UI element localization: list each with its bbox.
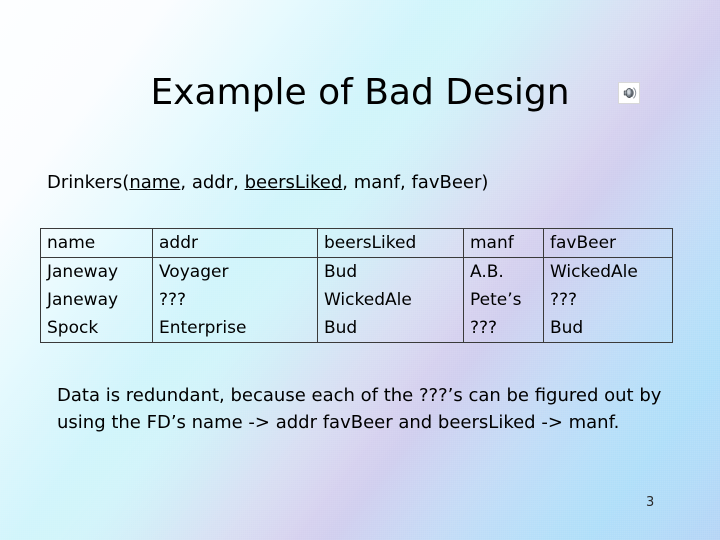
relation-schema-line: Drinkers(name, addr, beersLiked, manf, f… <box>47 171 488 195</box>
slide: Example of Bad Design Drinkers(name, ad <box>0 0 720 540</box>
table-column-header-beersliked: beersLiked <box>318 229 464 258</box>
page-number: 3 <box>646 495 654 511</box>
table-body: Janeway Voyager Bud A.B. WickedAle Janew… <box>41 258 673 343</box>
sound-speaker-icon[interactable] <box>618 82 640 104</box>
table-cell: Spock <box>41 314 153 343</box>
table-cell: Janeway <box>41 258 153 287</box>
table-row: Janeway Voyager Bud A.B. WickedAle <box>41 258 673 287</box>
table-cell: Bud <box>544 314 673 343</box>
table-row: Janeway ??? WickedAle Pete’s ??? <box>41 286 673 314</box>
schema-separator-1: , <box>233 172 244 193</box>
table-cell: Pete’s <box>464 286 544 314</box>
table-cell: Enterprise <box>153 314 318 343</box>
table-cell: A.B. <box>464 258 544 287</box>
table-column-header-manf: manf <box>464 229 544 258</box>
table-row: Spock Enterprise Bud ??? Bud <box>41 314 673 343</box>
table-column-header-addr: addr <box>153 229 318 258</box>
schema-attribute-manf: manf <box>354 172 400 193</box>
schema-separator-2: , <box>342 172 353 193</box>
table-header: name addr beersLiked manf favBeer <box>41 229 673 258</box>
schema-relation-suffix: ) <box>481 172 488 193</box>
schema-attribute-favbeer: favBeer <box>411 172 481 193</box>
schema-relation-prefix: Drinkers( <box>47 172 129 193</box>
schema-separator-3: , <box>400 172 411 193</box>
table-cell: ??? <box>544 286 673 314</box>
schema-separator-0: , <box>180 172 191 193</box>
table-cell: Janeway <box>41 286 153 314</box>
schema-attribute-beersliked: beersLiked <box>245 172 343 193</box>
schema-attribute-name: name <box>129 172 180 193</box>
page-title: Example of Bad Design <box>0 71 720 115</box>
table-column-header-favbeer: favBeer <box>544 229 673 258</box>
table-cell: WickedAle <box>544 258 673 287</box>
slide-content: Example of Bad Design Drinkers(name, ad <box>0 0 720 540</box>
drinkers-data-table: name addr beersLiked manf favBeer Janewa… <box>40 228 673 343</box>
table-cell: WickedAle <box>318 286 464 314</box>
table-cell: ??? <box>464 314 544 343</box>
explanation-text: Data is redundant, because each of the ?… <box>57 382 697 436</box>
table-column-header-name: name <box>41 229 153 258</box>
table-cell: Bud <box>318 258 464 287</box>
table-cell: Voyager <box>153 258 318 287</box>
schema-attribute-addr: addr <box>192 172 233 193</box>
table-header-row: name addr beersLiked manf favBeer <box>41 229 673 258</box>
table-cell: Bud <box>318 314 464 343</box>
table-cell: ??? <box>153 286 318 314</box>
